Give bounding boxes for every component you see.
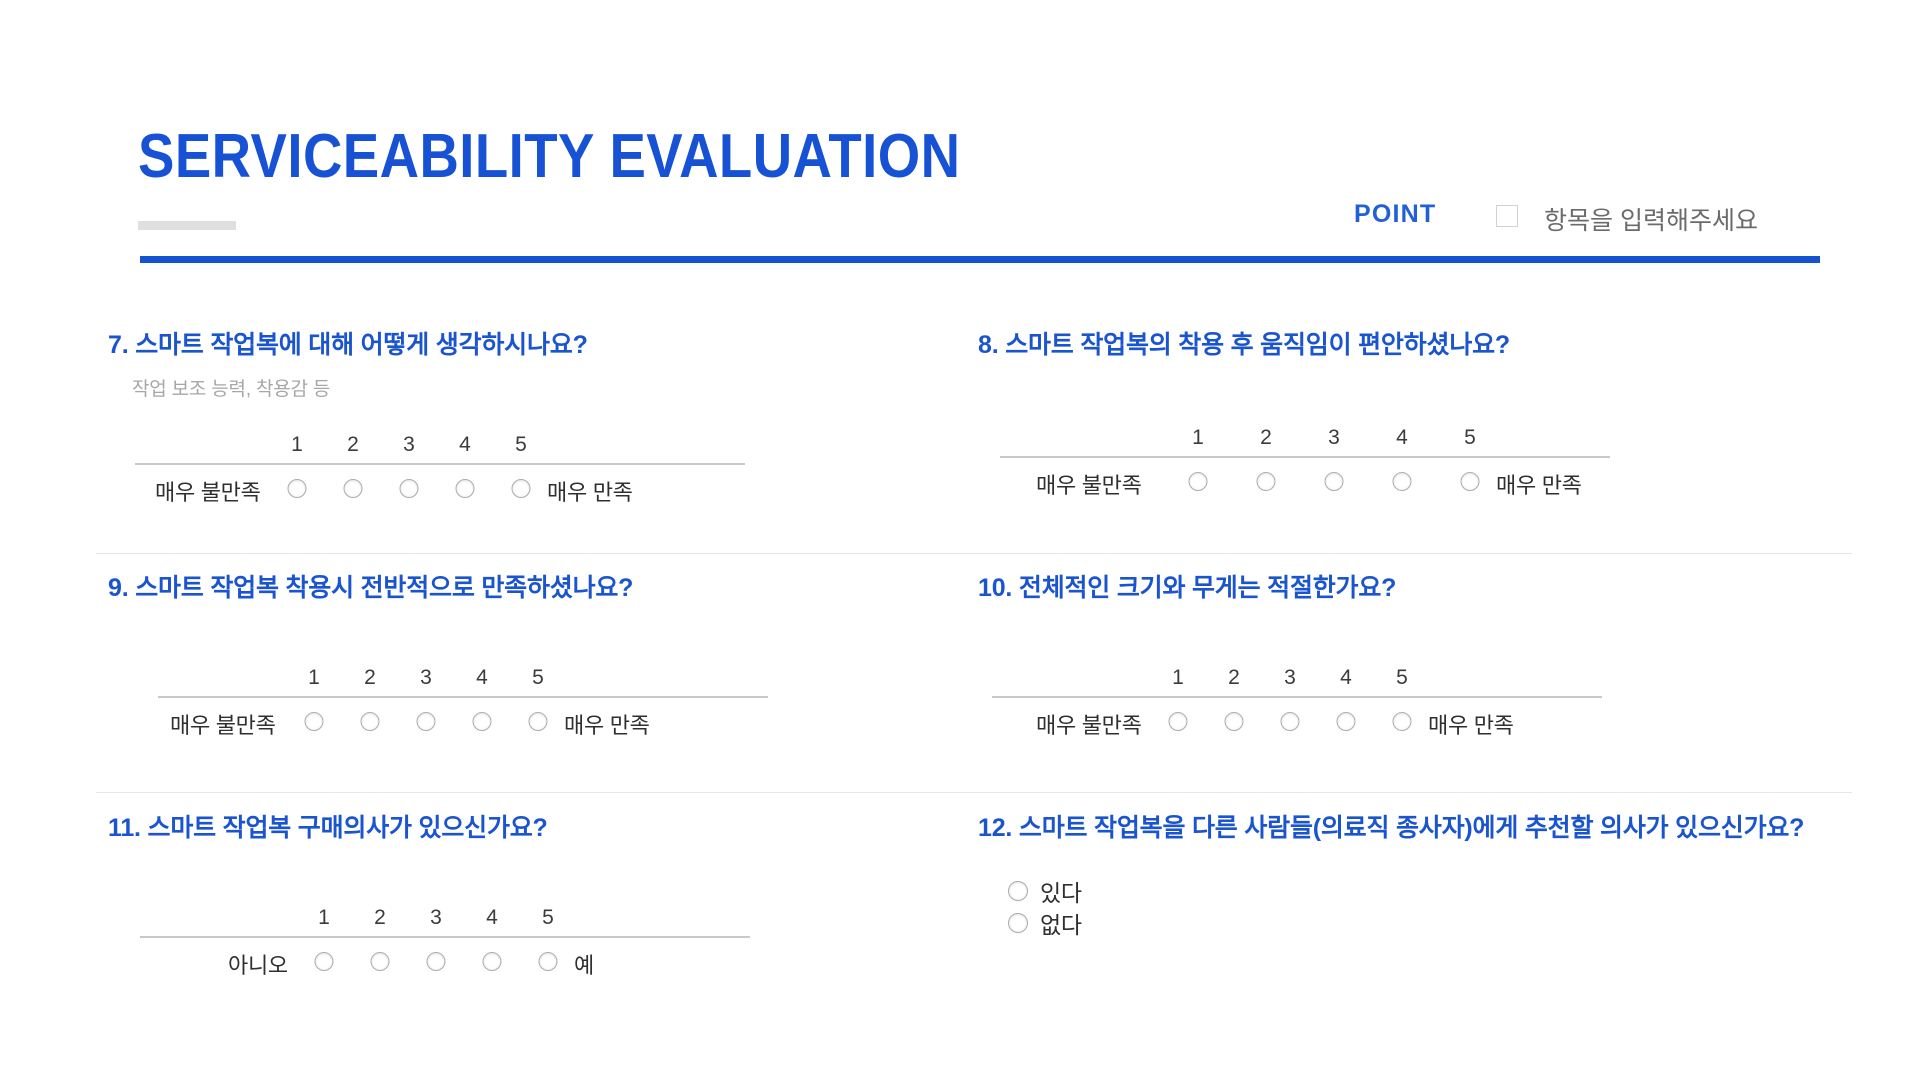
radio-9-3[interactable]: [417, 712, 436, 731]
question-block-11: 11. 스마트 작업복 구매의사가 있으신가요? 1 2 3 4 5 아니오 예: [108, 808, 868, 984]
radio-11-4[interactable]: [483, 952, 502, 971]
scale-number-1: 1: [318, 906, 330, 930]
radio-8-5[interactable]: [1461, 472, 1480, 491]
scale-number-5: 5: [1464, 426, 1476, 450]
radio-10-3[interactable]: [1281, 712, 1300, 731]
likert-scale-7: 1 2 3 4 5 매우 불만족 매우 만족: [135, 433, 745, 511]
scale-number-3: 3: [1284, 666, 1296, 690]
question-title-10: 10. 전체적인 크기와 무게는 적절한가요?: [978, 568, 1738, 609]
question-title-7: 7. 스마트 작업복에 대해 어떻게 생각하시나요?: [108, 325, 868, 366]
scale-numbers-10: 1 2 3 4 5: [992, 666, 1602, 692]
title-accent-bar: [138, 221, 236, 230]
scale-number-3: 3: [420, 666, 432, 690]
scale-row-8: 매우 불만족 매우 만족: [1000, 464, 1610, 504]
radio-10-2[interactable]: [1225, 712, 1244, 731]
scale-number-4: 4: [1340, 666, 1352, 690]
row-divider-1: [96, 553, 1852, 554]
point-label: POINT: [1354, 200, 1436, 229]
scale-number-4: 4: [476, 666, 488, 690]
scale-number-2: 2: [374, 906, 386, 930]
scale-number-1: 1: [308, 666, 320, 690]
scale-number-2: 2: [1260, 426, 1272, 450]
radio-icon: [1008, 913, 1028, 933]
radio-11-5[interactable]: [539, 952, 558, 971]
header-rule: [140, 256, 1820, 263]
radio-8-4[interactable]: [1393, 472, 1412, 491]
question-block-10: 10. 전체적인 크기와 무게는 적절한가요? 1 2 3 4 5 매우 불만족…: [978, 568, 1738, 744]
scale-right-label-7: 매우 만족: [547, 475, 633, 507]
radio-7-4[interactable]: [456, 479, 475, 498]
radio-9-5[interactable]: [529, 712, 548, 731]
radio-11-2[interactable]: [371, 952, 390, 971]
page-header: SERVICEABILITY EVALUATION POINT 항목을 입력해주…: [0, 0, 1920, 270]
scale-line-9: [158, 696, 768, 698]
row-divider-2: [96, 792, 1852, 793]
radio-11-3[interactable]: [427, 952, 446, 971]
scale-numbers-11: 1 2 3 4 5: [140, 906, 750, 932]
radio-11-1[interactable]: [315, 952, 334, 971]
scale-number-3: 3: [1328, 426, 1340, 450]
slide-page: SERVICEABILITY EVALUATION POINT 항목을 입력해주…: [0, 0, 1920, 1080]
scale-right-label-8: 매우 만족: [1496, 468, 1582, 500]
scale-number-2: 2: [347, 433, 359, 457]
radio-8-1[interactable]: [1189, 472, 1208, 491]
scale-numbers-8: 1 2 3 4 5: [1000, 426, 1610, 452]
radio-option-12-1[interactable]: 있다: [1008, 875, 1878, 907]
scale-row-10: 매우 불만족 매우 만족: [992, 704, 1602, 744]
scale-left-label-9: 매우 불만족: [170, 708, 276, 740]
scale-line-10: [992, 696, 1602, 698]
scale-number-1: 1: [291, 433, 303, 457]
page-title: SERVICEABILITY EVALUATION: [138, 126, 960, 188]
question-subtitle-7: 작업 보조 능력, 착용감 등: [132, 374, 868, 401]
scale-left-label-8: 매우 불만족: [1036, 468, 1142, 500]
scale-left-label-7: 매우 불만족: [155, 475, 261, 507]
question-title-11: 11. 스마트 작업복 구매의사가 있으신가요?: [108, 808, 868, 849]
radio-icon: [1008, 881, 1028, 901]
scale-number-4: 4: [486, 906, 498, 930]
scale-number-1: 1: [1192, 426, 1204, 450]
scale-number-3: 3: [430, 906, 442, 930]
radio-list-12: 있다 없다: [1008, 875, 1878, 939]
radio-9-1[interactable]: [305, 712, 324, 731]
scale-row-11: 아니오 예: [140, 944, 750, 984]
scale-number-5: 5: [542, 906, 554, 930]
scale-number-2: 2: [364, 666, 376, 690]
scale-line-7: [135, 463, 745, 465]
radio-10-5[interactable]: [1393, 712, 1412, 731]
scale-number-5: 5: [1396, 666, 1408, 690]
radio-9-2[interactable]: [361, 712, 380, 731]
radio-9-4[interactable]: [473, 712, 492, 731]
radio-option-label: 없다: [1040, 906, 1082, 940]
scale-numbers-7: 1 2 3 4 5: [135, 433, 745, 459]
likert-scale-11: 1 2 3 4 5 아니오 예: [140, 906, 750, 984]
radio-option-12-2[interactable]: 없다: [1008, 907, 1878, 939]
likert-scale-8: 1 2 3 4 5 매우 불만족 매우 만족: [1000, 426, 1610, 504]
scale-right-label-9: 매우 만족: [564, 708, 650, 740]
radio-8-2[interactable]: [1257, 472, 1276, 491]
scale-number-2: 2: [1228, 666, 1240, 690]
point-checkbox[interactable]: [1496, 205, 1518, 227]
scale-row-9: 매우 불만족 매우 만족: [158, 704, 768, 744]
scale-left-label-11: 아니오: [228, 948, 288, 980]
question-title-8: 8. 스마트 작업복의 착용 후 움직임이 편안하셨나요?: [978, 325, 1738, 366]
likert-scale-10: 1 2 3 4 5 매우 불만족 매우 만족: [992, 666, 1602, 744]
scale-number-5: 5: [532, 666, 544, 690]
scale-number-4: 4: [459, 433, 471, 457]
scale-row-7: 매우 불만족 매우 만족: [135, 471, 745, 511]
scale-numbers-9: 1 2 3 4 5: [158, 666, 768, 692]
scale-number-4: 4: [1396, 426, 1408, 450]
radio-7-3[interactable]: [400, 479, 419, 498]
scale-number-5: 5: [515, 433, 527, 457]
question-title-9: 9. 스마트 작업복 착용시 전반적으로 만족하셨나요?: [108, 568, 868, 609]
radio-option-label: 있다: [1040, 874, 1082, 908]
question-block-9: 9. 스마트 작업복 착용시 전반적으로 만족하셨나요? 1 2 3 4 5 매…: [108, 568, 868, 744]
scale-left-label-10: 매우 불만족: [1036, 708, 1142, 740]
question-block-8: 8. 스마트 작업복의 착용 후 움직임이 편안하셨나요? 1 2 3 4 5 …: [978, 325, 1738, 504]
question-title-12: 12. 스마트 작업복을 다른 사람들(의료직 종사자)에게 추천할 의사가 있…: [978, 808, 1858, 849]
point-placeholder-text[interactable]: 항목을 입력해주세요: [1544, 201, 1758, 237]
radio-8-3[interactable]: [1325, 472, 1344, 491]
likert-scale-9: 1 2 3 4 5 매우 불만족 매우 만족: [158, 666, 768, 744]
radio-7-5[interactable]: [512, 479, 531, 498]
scale-line-8: [1000, 456, 1610, 458]
scale-right-label-10: 매우 만족: [1428, 708, 1514, 740]
radio-10-4[interactable]: [1337, 712, 1356, 731]
radio-7-2[interactable]: [344, 479, 363, 498]
scale-number-3: 3: [403, 433, 415, 457]
scale-right-label-11: 예: [574, 948, 594, 980]
question-block-12: 12. 스마트 작업복을 다른 사람들(의료직 종사자)에게 추천할 의사가 있…: [978, 808, 1878, 939]
question-block-7: 7. 스마트 작업복에 대해 어떻게 생각하시나요? 작업 보조 능력, 착용감…: [108, 325, 868, 511]
scale-number-1: 1: [1172, 666, 1184, 690]
scale-line-11: [140, 936, 750, 938]
radio-10-1[interactable]: [1169, 712, 1188, 731]
radio-7-1[interactable]: [288, 479, 307, 498]
